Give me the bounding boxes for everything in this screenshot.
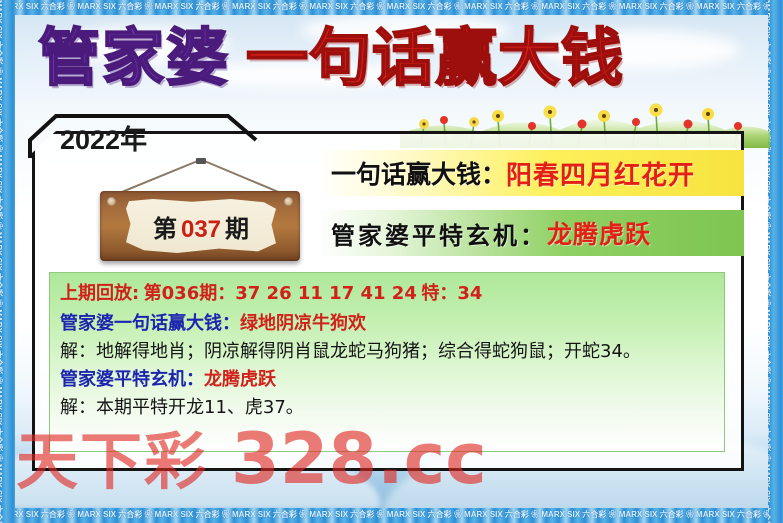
replay-issue: 第036期	[144, 283, 218, 304]
banner-phrase-label: 一句话赢大钱：	[331, 155, 506, 191]
border-pattern-text: MARX SIX 六合彩 ❀ MARX SIX 六合彩 ❀ MARX SIX 六…	[0, 511, 783, 519]
special-number: 34	[457, 283, 482, 304]
year-label: 2022年	[60, 118, 147, 157]
border-pattern-text: MARX SIX 六合彩 ❀ MARX SIX 六合彩 ❀ MARX SIX 六…	[0, 0, 2, 523]
title-brand: 管家婆	[38, 20, 230, 96]
replay-line: 上期回放: 第036期：37 26 11 17 41 24 特：34	[60, 285, 714, 303]
banner-mystery-label: 管家婆平特玄机：	[331, 216, 547, 251]
sign-text: 第037期	[153, 209, 249, 244]
title-slogan: 一句话赢大钱	[246, 20, 624, 96]
sign-suffix: 期	[225, 214, 249, 243]
sign-board: 第037期	[100, 191, 300, 261]
border-bottom: MARX SIX 六合彩 ❀ MARX SIX 六合彩 ❀ MARX SIX 六…	[0, 508, 783, 523]
border-right: MARX SIX 六合彩 ❀ MARX SIX 六合彩 ❀ MARX SIX 六…	[768, 0, 783, 523]
issue-sign: 第037期	[86, 158, 316, 268]
explanation-line-2: 解：本期平特开龙11、虎37。	[60, 399, 714, 417]
phrase-label: 管家婆一句话赢大钱：	[60, 313, 240, 334]
poster-canvas: MARX SIX 六合彩 ❀ MARX SIX 六合彩 ❀ MARX SIX 六…	[0, 0, 783, 523]
border-left: MARX SIX 六合彩 ❀ MARX SIX 六合彩 ❀ MARX SIX 六…	[0, 0, 15, 523]
detail-panel: 上期回放: 第036期：37 26 11 17 41 24 特：34 管家婆一句…	[49, 272, 725, 452]
mystery-label: 管家婆平特玄机：	[60, 369, 204, 390]
border-pattern-text: MARX SIX 六合彩 ❀ MARX SIX 六合彩 ❀ MARX SIX 六…	[768, 0, 770, 523]
replay-label: 上期回放:	[60, 283, 139, 304]
sign-issue-number: 037	[181, 216, 221, 243]
replay-numbers: 37 26 11 17 41 24	[235, 283, 417, 304]
replay-colon: ：	[217, 283, 235, 304]
mystery-line: 管家婆平特玄机：龙腾虎跃	[60, 371, 714, 389]
banner-phrase-value: 阳春四月红花开	[506, 155, 695, 192]
banner-phrase: 一句话赢大钱：阳春四月红花开	[317, 150, 744, 196]
sign-prefix: 第	[153, 214, 177, 243]
explanation-text-1: 解：地解得地肖；阴凉解得阴肖鼠龙蛇马狗猪；综合得蛇狗鼠；开蛇34。	[60, 341, 641, 362]
phrase-line: 管家婆一句话赢大钱：绿地阴凉牛狗欢	[60, 315, 714, 333]
border-top: MARX SIX 六合彩 ❀ MARX SIX 六合彩 ❀ MARX SIX 六…	[0, 0, 783, 15]
page-title: 管家婆一句话赢大钱	[38, 20, 648, 100]
phrase-value: 绿地阴凉牛狗欢	[240, 313, 366, 334]
banner-mystery: 管家婆平特玄机：龙腾虎跃	[317, 210, 744, 256]
explanation-line-1: 解：地解得地肖；阴凉解得阴肖鼠龙蛇马狗猪；综合得蛇狗鼠；开蛇34。	[60, 343, 714, 361]
special-label: 特	[421, 283, 439, 304]
explanation-text-2: 解：本期平特开龙11、虎37。	[60, 397, 304, 418]
special-colon: ：	[439, 283, 457, 304]
border-pattern-text: MARX SIX 六合彩 ❀ MARX SIX 六合彩 ❀ MARX SIX 六…	[0, 3, 783, 11]
mystery-value: 龙腾虎跃	[204, 369, 276, 390]
banner-mystery-value: 龙腾虎跃	[547, 215, 651, 251]
sign-paper: 第037期	[126, 199, 276, 253]
